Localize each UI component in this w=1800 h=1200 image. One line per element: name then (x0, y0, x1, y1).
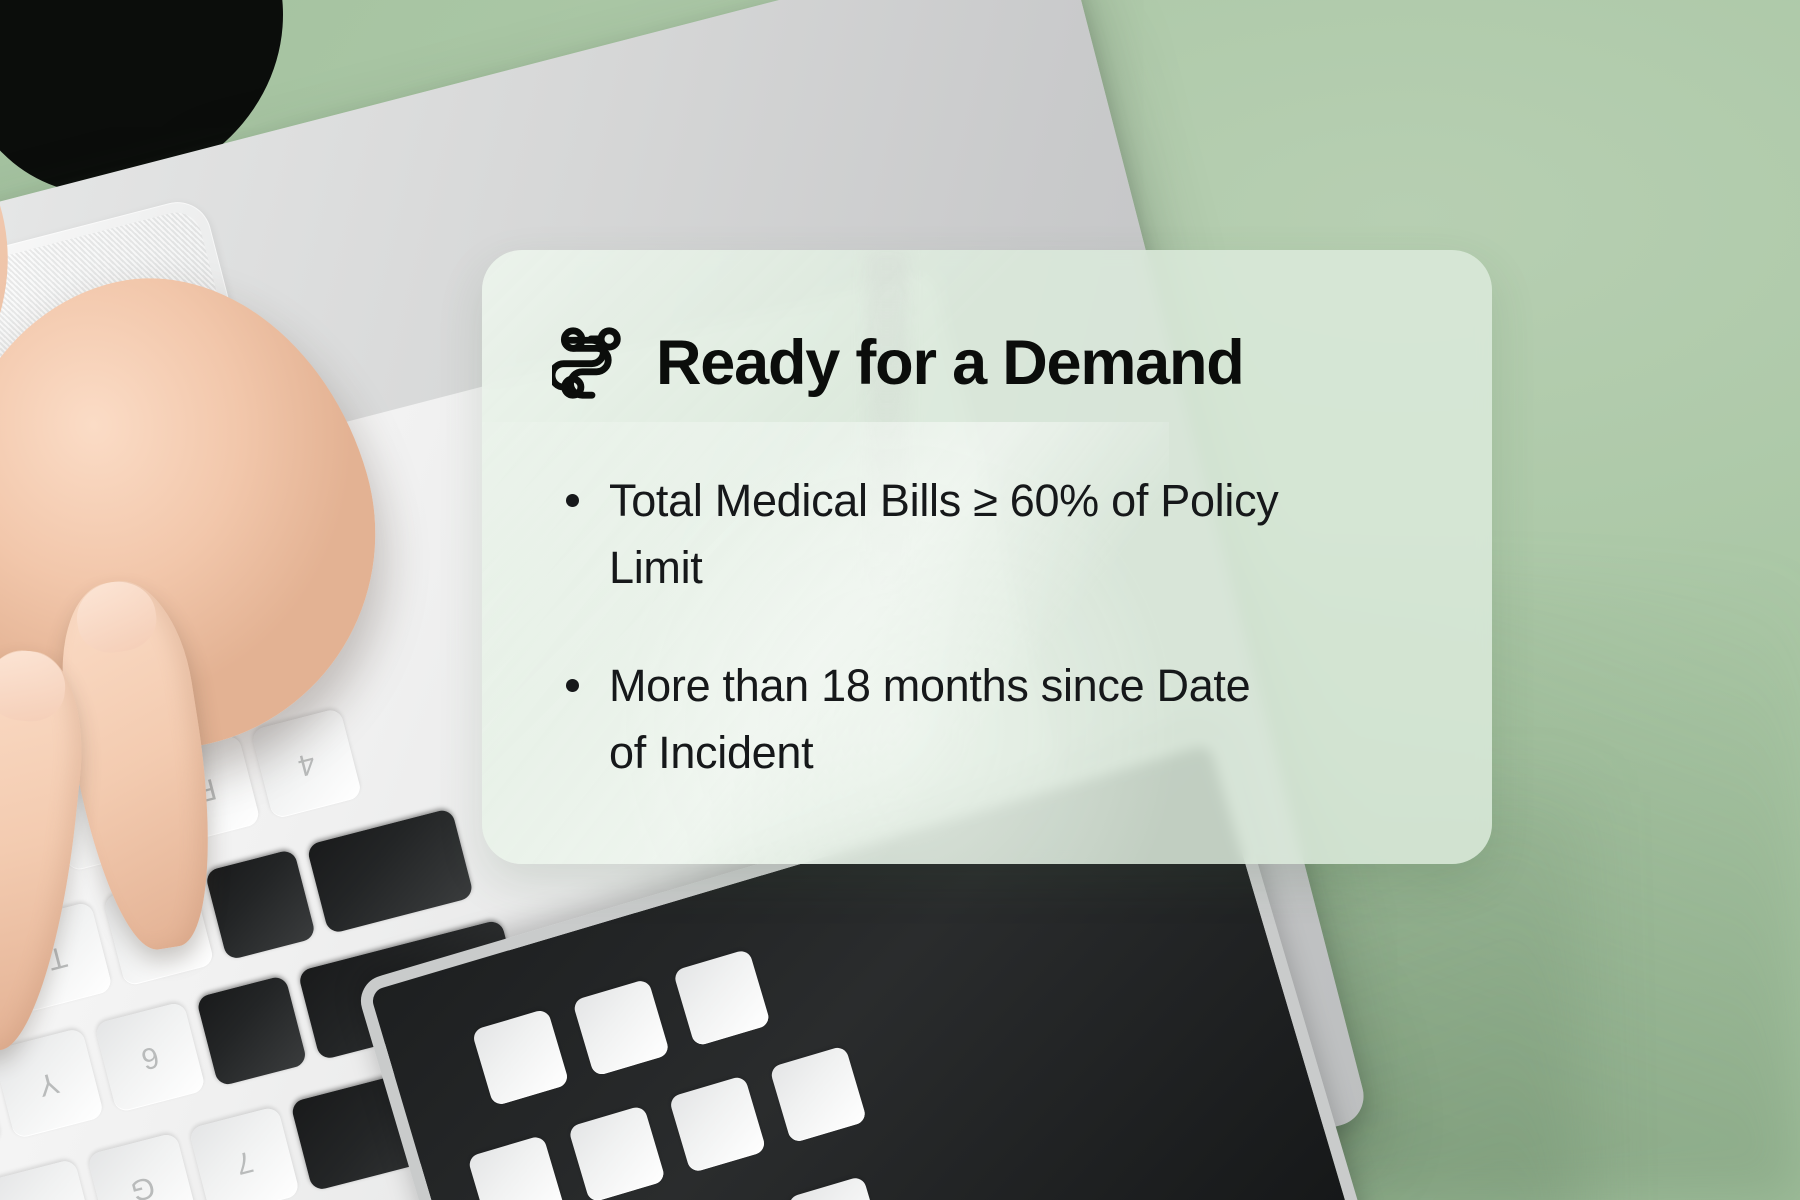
card-header: Ready for a Demand (552, 324, 1422, 402)
list-item: More than 18 months since Date of Incide… (566, 653, 1422, 786)
route-path-icon (552, 324, 630, 402)
key-blank (787, 1176, 885, 1200)
key-blank (769, 1045, 867, 1143)
bullet-dot-icon (566, 679, 579, 692)
key-u: U (0, 1158, 97, 1200)
list-item-label: Total Medical Bills ≥ 60% of Policy Limi… (609, 468, 1289, 601)
info-card: Ready for a Demand Total Medical Bills ≥… (482, 250, 1492, 864)
key-blank (668, 1075, 766, 1173)
bullet-dot-icon (566, 494, 579, 507)
list-item-label: More than 18 months since Date of Incide… (609, 653, 1289, 786)
list-item: Total Medical Bills ≥ 60% of Policy Limi… (566, 468, 1422, 601)
key-blank (673, 949, 771, 1047)
requirements-list: Total Medical Bills ≥ 60% of Policy Limi… (552, 468, 1422, 786)
page-title: Ready for a Demand (656, 332, 1244, 395)
